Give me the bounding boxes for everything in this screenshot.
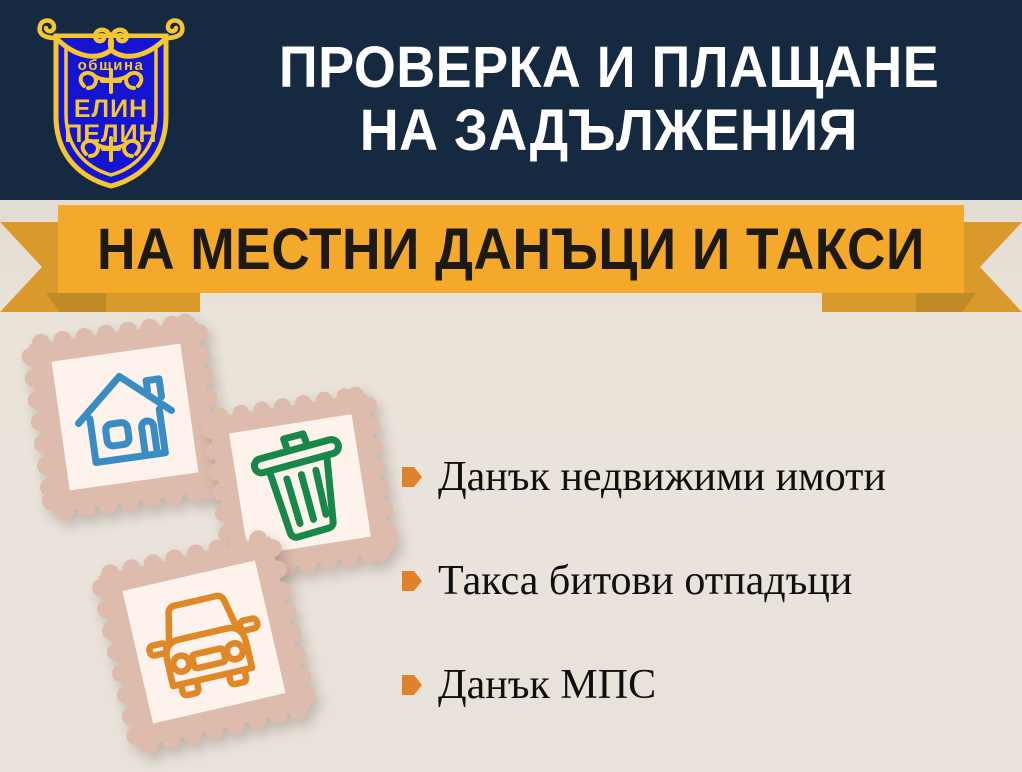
header-band: община ЕЛИН ПЕЛИН ПРОВЕРКА И ПЛАЩАНЕ НА … xyxy=(0,0,1022,200)
service-list: Данък недвижими имоти Такса битови отпад… xyxy=(400,425,1010,737)
list-item[interactable]: Данък недвижими имоти xyxy=(400,425,1010,529)
page-title-line-1: ПРОВЕРКА И ПЛАЩАНЕ xyxy=(279,37,939,100)
arrow-right-bullet-icon xyxy=(400,464,424,490)
list-item[interactable]: Такса битови отпадъци xyxy=(400,529,1010,633)
list-item-label: Данък МПС xyxy=(438,664,656,706)
logo-name-line-1: ЕЛИН xyxy=(74,95,148,123)
arrow-right-bullet-icon xyxy=(400,672,424,698)
municipality-logo: община ЕЛИН ПЕЛИН xyxy=(26,8,196,193)
stamp-vehicle-tax xyxy=(92,530,317,755)
page-title: ПРОВЕРКА И ПЛАЩАНЕ НА ЗАДЪЛЖЕНИЯ xyxy=(196,10,1022,190)
ribbon-label: НА МЕСТНИ ДАНЪЦИ И ТАКСИ xyxy=(97,216,925,283)
list-item[interactable]: Данък МПС xyxy=(400,633,1010,737)
list-item-label: Такса битови отпадъци xyxy=(438,560,852,602)
arrow-right-bullet-icon xyxy=(400,568,424,594)
logo-top-text: община xyxy=(78,57,145,74)
logo-name-line-2: ПЕЛИН xyxy=(64,120,157,148)
subtitle-ribbon: НА МЕСТНИ ДАНЪЦИ И ТАКСИ xyxy=(0,200,1022,312)
page-title-line-2: НА ЗАДЪЛЖЕНИЯ xyxy=(360,100,858,163)
poster-canvas: община ЕЛИН ПЕЛИН ПРОВЕРКА И ПЛАЩАНЕ НА … xyxy=(0,0,1022,772)
ribbon-panel: НА МЕСТНИ ДАНЪЦИ И ТАКСИ xyxy=(58,205,964,293)
list-item-label: Данък недвижими имоти xyxy=(438,456,886,498)
